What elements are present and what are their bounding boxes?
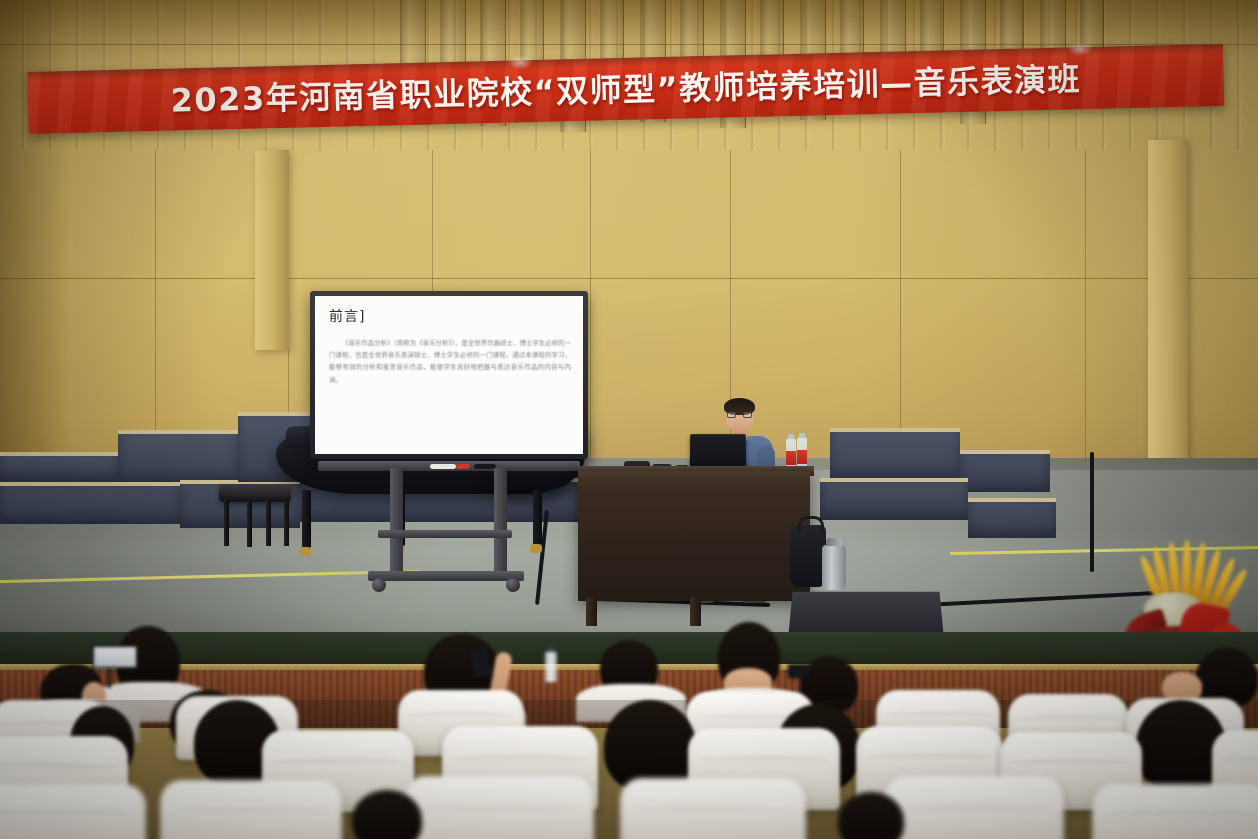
desk-leg [690,598,701,626]
piano-caster [530,544,542,553]
display-stand-base [368,571,524,581]
whiteboard-marker-red[interactable] [456,464,470,469]
desk-leg [586,598,597,626]
wall-seam [0,278,1258,279]
wall-seam [900,150,901,468]
audience-chair [404,776,594,839]
stand-caster [506,578,520,592]
slide-body-text: 《音乐作品分析》（简称为《音乐分析》），是全世界作曲硕士、博士学生必修的一门课程… [329,337,571,386]
audience-chair [620,778,806,839]
wall-seam [155,150,156,468]
piano-leg [302,490,311,548]
wall-pillar [255,150,289,350]
display-stand-column [494,468,507,578]
stand-caster [372,578,386,592]
bench-leg [284,500,289,546]
power-cable [1090,452,1094,572]
choir-riser [820,478,968,520]
piano-leg [533,490,542,545]
audience-chair [160,780,342,839]
display-stand-shelf [378,530,512,538]
phone-recording-screen[interactable] [92,645,138,669]
choir-riser [968,498,1056,538]
bench-leg [224,500,229,546]
wall-seam [590,150,591,468]
choir-riser [960,450,1050,492]
whiteboard-marker[interactable] [430,464,456,469]
wall-pillar [1148,140,1188,470]
bench-leg [266,500,271,546]
water-bottle[interactable] [545,652,557,682]
audience-chair [884,776,1064,839]
choir-riser [0,452,118,482]
display-screen: 前言] 《音乐作品分析》（简称为《音乐分析》），是全世界作曲硕士、博士学生必修的… [315,296,583,454]
choir-riser [0,482,180,524]
audience-chair [0,784,146,839]
backpack[interactable] [790,525,826,587]
lecture-desk [578,471,810,601]
audience-chair [1092,784,1258,839]
slide-title: 前言] [329,306,365,326]
glasses-icon [727,412,752,418]
wall-seam [1085,150,1086,468]
presentation-display[interactable]: 前言] 《音乐作品分析》（简称为《音乐分析》），是全世界作曲硕士、博士学生必修的… [310,291,588,459]
whiteboard-marker-black[interactable] [474,464,496,469]
piano-bench [219,484,291,502]
slide-paragraph: 《音乐作品分析》（简称为《音乐分析》），是全世界作曲硕士、博士学生必修的一门课程… [329,337,571,386]
choir-riser [118,430,238,482]
piano-caster [299,547,311,556]
auditorium-lecture-photo: 2023年河南省职业院校“双师型”教师培养培训—音乐表演班 前言] 《音乐作品分… [0,0,1258,839]
choir-riser [830,428,960,480]
handheld-phone[interactable] [788,664,810,678]
thermos[interactable] [822,545,846,590]
display-stand-column [390,468,403,578]
bench-leg [247,501,252,547]
